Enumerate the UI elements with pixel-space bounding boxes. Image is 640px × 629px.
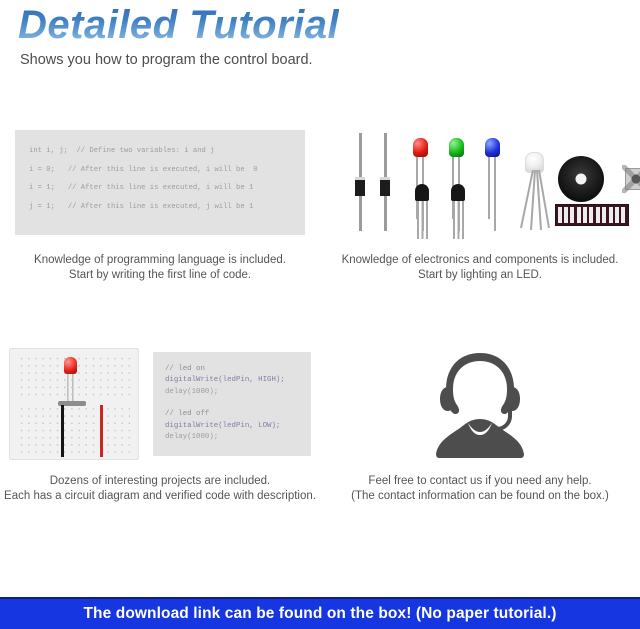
caption-line-1: Feel free to contact us if you need any … — [351, 474, 609, 489]
panel-caption: Knowledge of programming language is inc… — [28, 245, 292, 283]
breadboard-wire-black — [61, 405, 64, 457]
code-block-variables: int i, j; // Define two variables: i and… — [15, 130, 305, 235]
page-subtitle: Shows you how to program the control boa… — [20, 51, 640, 69]
code-line: digitalWrite(ledPin, HIGH); — [165, 375, 311, 387]
tactile-button-icon — [625, 168, 640, 190]
page-header: Detailed Tutorial Shows you how to progr… — [0, 0, 640, 69]
caption-line-1: Knowledge of programming language is inc… — [34, 253, 286, 268]
led-red-icon — [413, 138, 428, 157]
led-blue-icon — [485, 138, 500, 157]
transistor-icon — [451, 184, 465, 201]
panel-caption: Dozens of interesting projects are inclu… — [0, 466, 322, 504]
caption-line-2: Start by lighting an LED. — [342, 268, 619, 283]
caption-line-2: Start by writing the first line of code. — [34, 268, 286, 283]
code-line: i = 0; // After this line is executed, i… — [29, 161, 305, 180]
caption-line-2: Each has a circuit diagram and verified … — [4, 489, 316, 504]
panel-electronics-components: Knowledge of electronics and components … — [320, 120, 640, 283]
panel-caption: Knowledge of electronics and components … — [336, 245, 625, 283]
diode-icon — [359, 133, 362, 231]
support-person-headset-icon — [418, 349, 542, 459]
caption-line-1: Dozens of interesting projects are inclu… — [4, 474, 316, 489]
panel-caption: Feel free to contact us if you need any … — [345, 466, 615, 504]
diode-icon — [384, 133, 387, 231]
breadboard-icon — [9, 348, 139, 460]
transistor-icon — [415, 184, 429, 201]
panel-programming-language: int i, j; // Define two variables: i and… — [0, 120, 320, 283]
code-line — [165, 398, 311, 409]
feature-panels: int i, j; // Define two variables: i and… — [0, 120, 640, 504]
panel-row-top: int i, j; // Define two variables: i and… — [0, 120, 640, 283]
code-line: // led on — [165, 364, 311, 376]
led-green-icon — [449, 138, 464, 157]
footer-banner: The download link can be found on the bo… — [0, 597, 640, 629]
code-line: delay(1000); — [165, 387, 311, 399]
code-line: int i, j; // Define two variables: i and… — [29, 142, 305, 161]
code-line: // led off — [165, 409, 311, 421]
resistor-array-icon — [555, 204, 629, 226]
code-line: j = 1; // After this line is executed, j… — [29, 198, 305, 217]
panel-projects: // led on digitalWrite(ledPin, HIGH); de… — [0, 341, 320, 504]
electronic-components-art — [320, 120, 640, 245]
code-block-blink: // led on digitalWrite(ledPin, HIGH); de… — [153, 352, 311, 456]
components-group — [353, 128, 608, 238]
caption-line-1: Knowledge of electronics and components … — [342, 253, 619, 268]
panel-support: Feel free to contact us if you need any … — [320, 341, 640, 504]
buzzer-icon — [558, 156, 604, 202]
footer-text: The download link can be found on the bo… — [83, 605, 556, 623]
caption-line-2: (The contact information can be found on… — [351, 489, 609, 504]
panel-row-bottom: // led on digitalWrite(ledPin, HIGH); de… — [0, 341, 640, 504]
code-snippet-variables-art: int i, j; // Define two variables: i and… — [0, 120, 320, 245]
breadboard-led-circuit-art: // led on digitalWrite(ledPin, HIGH); de… — [0, 341, 320, 466]
code-line: i = 1; // After this line is executed, i… — [29, 179, 305, 198]
support-person-art — [320, 341, 640, 466]
rgb-led-legs-icon — [515, 170, 555, 232]
breadboard-wire-red — [100, 405, 103, 457]
code-line: digitalWrite(ledPin, LOW); — [165, 421, 311, 433]
code-line: delay(1000); — [165, 432, 311, 444]
breadboard-led-red-icon — [64, 357, 77, 374]
page-title: Detailed Tutorial — [18, 2, 339, 48]
